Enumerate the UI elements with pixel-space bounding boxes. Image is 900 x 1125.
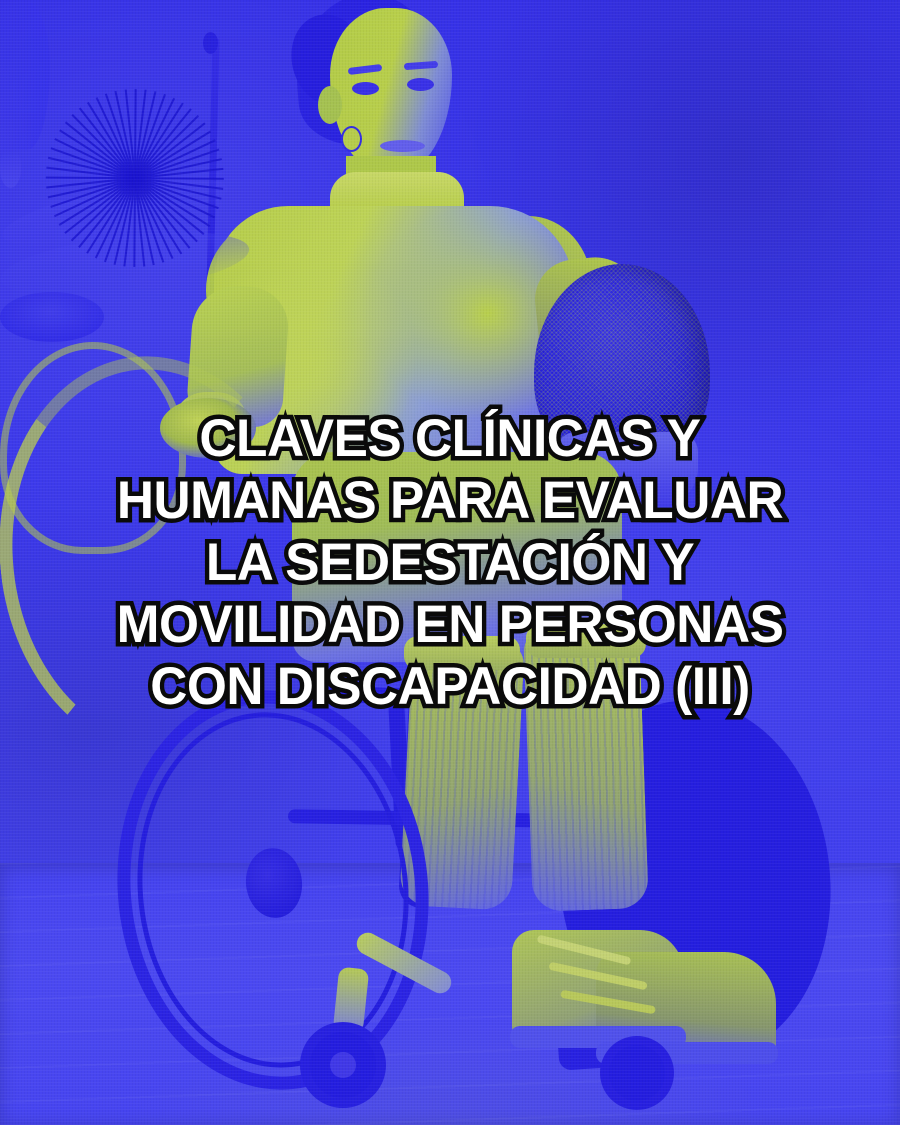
caster-wheel-rear [600, 1036, 674, 1110]
caster-hub [330, 1052, 356, 1078]
wheel-spokes [0, 0, 288, 369]
poster-canvas: CLAVES CLÍNICAS Y HUMANAS PARA EVALUAR L… [0, 0, 900, 1125]
wheelchair-front [0, 0, 900, 1125]
duotone-photo [0, 0, 900, 1125]
